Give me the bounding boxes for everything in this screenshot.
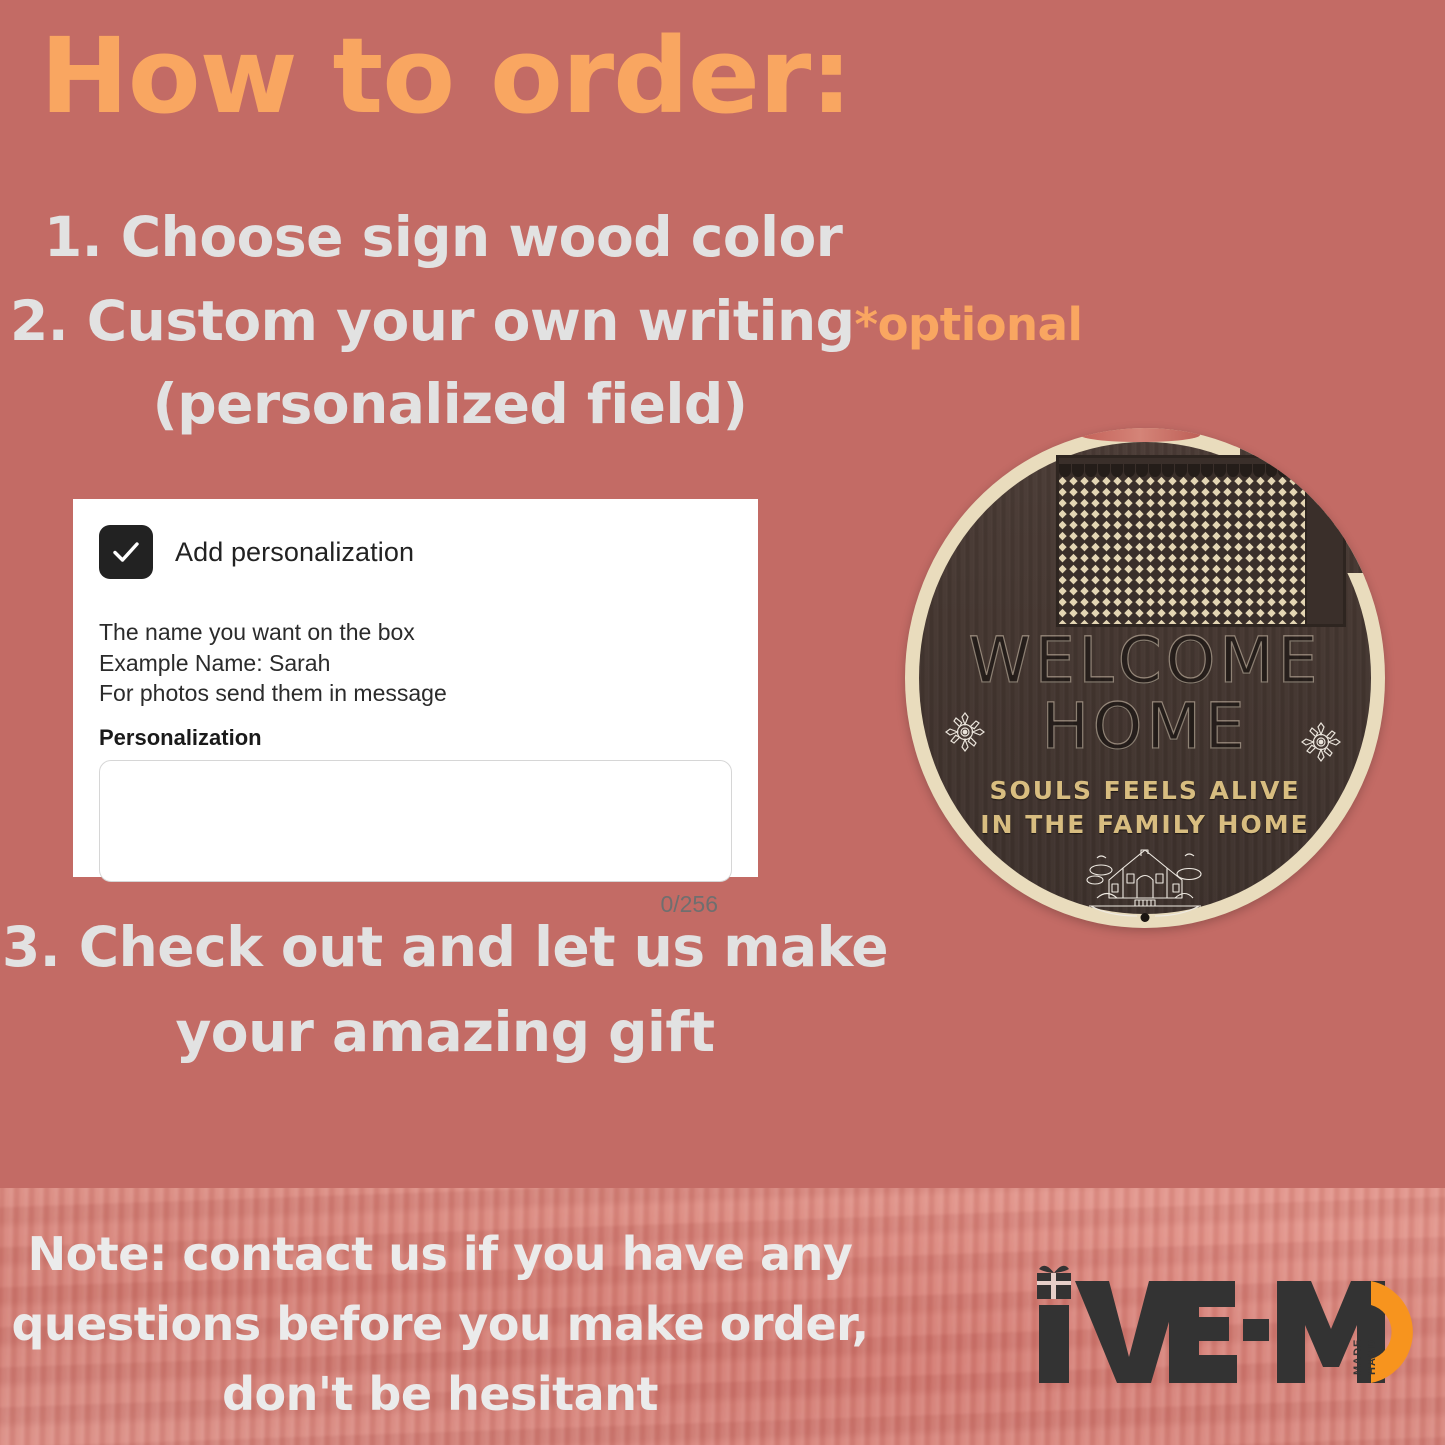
lattice-side-band	[1305, 458, 1343, 624]
help-line-3: For photos send them in message	[99, 678, 732, 709]
help-line-1: The name you want on the box	[99, 617, 732, 648]
checkbox-checked-icon[interactable]	[99, 525, 153, 579]
mandala-flower-left-icon	[943, 710, 987, 754]
order-steps: 1. Choose sign wood color 2. Custom your…	[0, 196, 1140, 447]
personalization-field-label: Personalization	[99, 725, 732, 751]
step-3-line-1: 3. Check out and let us make	[0, 905, 890, 990]
house-illustration-icon	[1079, 846, 1211, 918]
note-line-3: don't be hesitant	[0, 1360, 880, 1430]
heart-lattice-grid: ◆◆◆◆◆◆◆◆◆◆◆◆◆◆◆◆◆◆◆◆◆◆◆◆◆◆◆◆◆◆◆◆◆◆◆◆◆◆◆◆…	[1057, 476, 1343, 627]
mandala-flower-right-icon	[1299, 720, 1343, 764]
step-2-subtext: (personalized field)	[0, 363, 900, 447]
add-personalization-label: Add personalization	[175, 537, 414, 568]
note-line-1: Note: contact us if you have any	[0, 1220, 880, 1290]
optional-badge: *optional	[855, 298, 1083, 351]
footer-band: Note: contact us if you have any questio…	[0, 1188, 1445, 1445]
help-line-2: Example Name: Sarah	[99, 648, 732, 679]
gold-quote-line-2: IN THE FAMILY HOME	[905, 810, 1385, 839]
step-1-text: 1. Choose sign wood color	[0, 196, 1140, 280]
logo-tag-made: MADE	[1352, 1339, 1364, 1375]
add-personalization-row[interactable]: Add personalization	[99, 525, 732, 579]
sign-bottom-peg	[1141, 913, 1150, 922]
poster-root: How to order: 1. Choose sign wood color …	[0, 0, 1445, 1445]
sign-board: ◆◆◆◆◆◆◆◆◆◆◆◆◆◆◆◆◆◆◆◆◆◆◆◆◆◆◆◆◆◆◆◆◆◆◆◆◆◆◆◆…	[905, 428, 1385, 928]
note-line-2: questions before you make order,	[0, 1290, 880, 1360]
heart-lattice-panel: ◆◆◆◆◆◆◆◆◆◆◆◆◆◆◆◆◆◆◆◆◆◆◆◆◆◆◆◆◆◆◆◆◆◆◆◆◆◆◆◆…	[1056, 455, 1346, 627]
brand-logo: HAND MADE	[1019, 1255, 1419, 1405]
gold-quote-line-1: SOULS FEELS ALIVE	[905, 776, 1385, 805]
step-2-row: 2. Custom your own writing*optional	[0, 280, 1140, 364]
engraved-welcome-text: WELCOME	[905, 624, 1385, 697]
step-3-line-2: your amazing gift	[0, 990, 890, 1075]
product-sign-image: ◆◆◆◆◆◆◆◆◆◆◆◆◆◆◆◆◆◆◆◆◆◆◆◆◆◆◆◆◆◆◆◆◆◆◆◆◆◆◆◆…	[905, 428, 1385, 938]
sign-top-peg	[1342, 446, 1349, 453]
step-2-text: 2. Custom your own writing	[10, 289, 855, 353]
footer-note: Note: contact us if you have any questio…	[0, 1220, 880, 1430]
personalization-card: Add personalization The name you want on…	[73, 499, 758, 877]
logo-tag-hand: HAND	[1366, 1339, 1378, 1375]
page-title: How to order:	[40, 22, 852, 131]
personalization-input[interactable]	[99, 760, 732, 882]
gift-box-icon	[1037, 1266, 1071, 1299]
step-3-block: 3. Check out and let us make your amazin…	[0, 905, 890, 1076]
sign-top-smear	[1080, 428, 1200, 442]
personalization-help-text: The name you want on the box Example Nam…	[99, 617, 732, 709]
lattice-scallop-trim	[1059, 464, 1343, 480]
